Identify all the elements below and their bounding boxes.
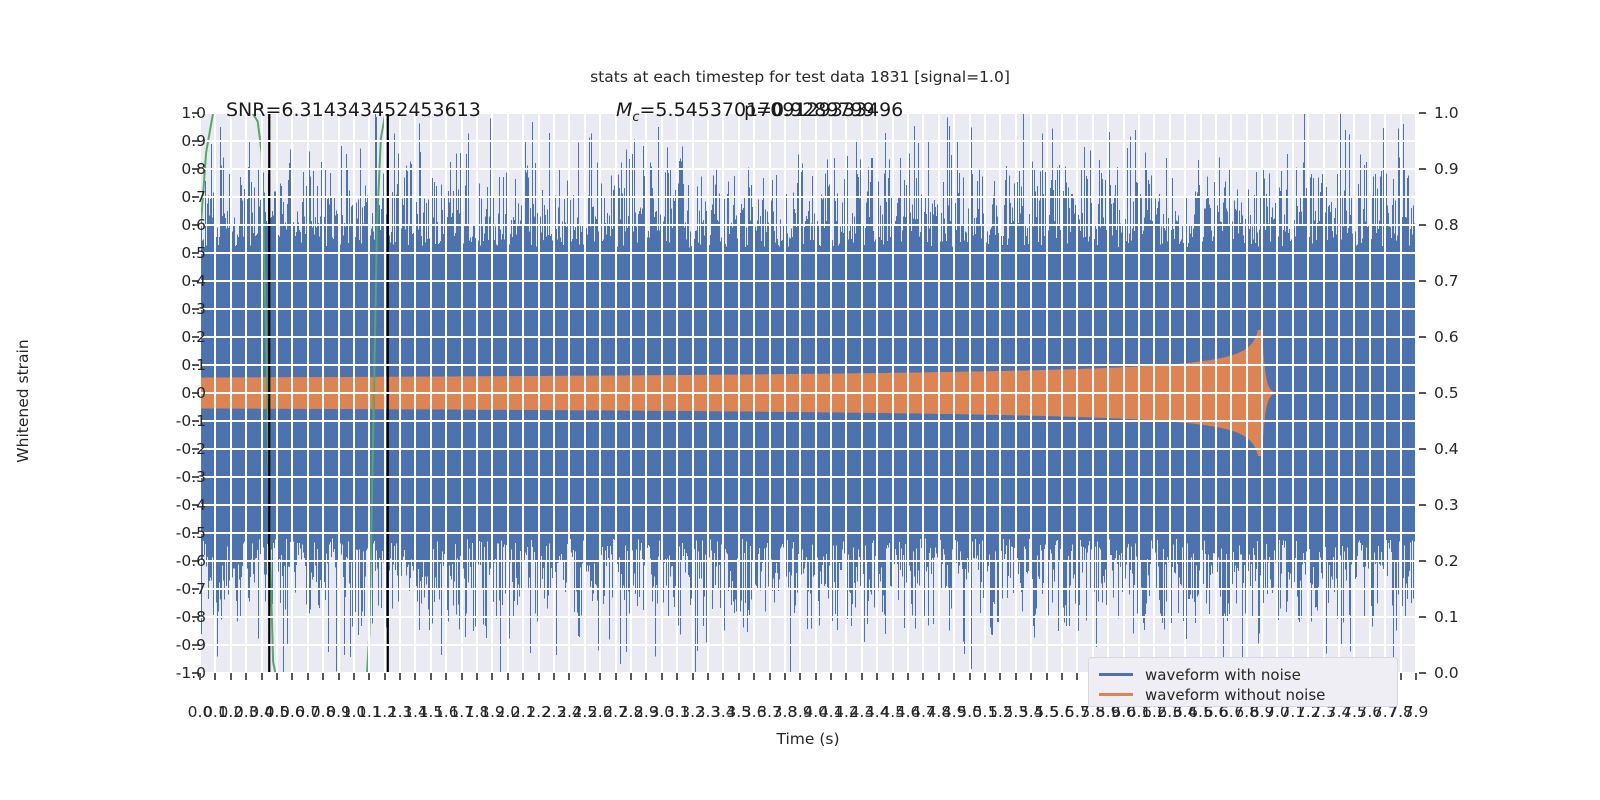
legend-entry-without-noise: waveform without noise <box>1099 685 1387 704</box>
legend-label-with-noise: waveform with noise <box>1145 666 1301 684</box>
x-gridline <box>1123 113 1125 673</box>
x-gridline <box>969 113 971 673</box>
x-tickmark <box>969 673 971 680</box>
y-gridline <box>200 364 1416 366</box>
x-tickmark <box>291 673 293 680</box>
chirp-mass-subscript: c <box>632 110 639 125</box>
y-tickmark-right <box>1419 224 1426 226</box>
x-gridline <box>676 113 678 673</box>
x-gridline <box>861 113 863 673</box>
y-tick-label-right: 0.3 <box>1434 496 1459 514</box>
y-tick-label-left: 0.7 <box>181 188 206 206</box>
y-tick-label-right: 1.0 <box>1434 104 1459 122</box>
x-gridline <box>1400 113 1402 673</box>
y-gridline <box>200 224 1416 226</box>
x-gridline <box>214 113 216 673</box>
x-gridline <box>984 113 986 673</box>
x-gridline <box>1092 113 1094 673</box>
x-tickmark <box>753 673 755 680</box>
x-gridline <box>1230 113 1232 673</box>
x-gridline <box>938 113 940 673</box>
x-gridline <box>1046 113 1048 673</box>
x-gridline <box>645 113 647 673</box>
x-tickmark <box>568 673 570 680</box>
y-gridline <box>200 196 1416 198</box>
y-tickmark-right <box>1419 392 1426 394</box>
y-tick-label-left: 0.9 <box>181 132 206 150</box>
x-gridline <box>399 113 401 673</box>
y-gridline <box>200 420 1416 422</box>
x-gridline <box>1415 113 1416 673</box>
x-gridline <box>368 113 370 673</box>
x-tickmark <box>445 673 447 680</box>
x-tickmark <box>214 673 216 680</box>
x-tickmark <box>722 673 724 680</box>
x-gridline <box>276 113 278 673</box>
y-tick-label-left: 0.1 <box>181 356 206 374</box>
x-gridline <box>553 113 555 673</box>
x-tickmark <box>353 673 355 680</box>
x-gridline <box>522 113 524 673</box>
x-tickmark <box>276 673 278 680</box>
x-gridline <box>230 113 232 673</box>
x-gridline <box>245 113 247 673</box>
x-gridline <box>1246 113 1248 673</box>
x-gridline <box>307 113 309 673</box>
x-tickmark <box>1076 673 1078 680</box>
x-tickmark <box>769 673 771 680</box>
x-gridline <box>1261 113 1263 673</box>
x-gridline <box>430 113 432 673</box>
y-tick-label-left: -0.1 <box>176 412 206 430</box>
y-gridline <box>200 588 1416 590</box>
figure-title: stats at each timestep for test data 183… <box>0 68 1600 86</box>
y-tickmark-right <box>1419 112 1426 114</box>
y-tick-label-right: 0.7 <box>1434 272 1459 290</box>
x-tickmark <box>1415 673 1417 680</box>
x-gridline <box>769 113 771 673</box>
x-tickmark <box>322 673 324 680</box>
y-tick-label-right: 0.8 <box>1434 216 1459 234</box>
figure-canvas: stats at each timestep for test data 183… <box>0 0 1600 800</box>
x-tickmark <box>692 673 694 680</box>
x-gridline <box>1076 113 1078 673</box>
y-tick-label-left: 0.0 <box>181 384 206 402</box>
y-tickmark-right <box>1419 448 1426 450</box>
x-tickmark <box>799 673 801 680</box>
x-tickmark <box>261 673 263 680</box>
x-gridline <box>1215 113 1217 673</box>
y-gridline <box>200 644 1416 646</box>
x-tickmark <box>615 673 617 680</box>
y-tick-label-left: 0.6 <box>181 216 206 234</box>
y-gridline <box>200 616 1416 618</box>
x-tickmark <box>830 673 832 680</box>
x-tickmark <box>999 673 1001 680</box>
x-gridline <box>1276 113 1278 673</box>
x-gridline <box>799 113 801 673</box>
x-tickmark <box>430 673 432 680</box>
x-tick-label: 7.9 <box>1404 703 1429 721</box>
x-tickmark <box>307 673 309 680</box>
x-tickmark <box>892 673 894 680</box>
y-tick-label-right: 0.2 <box>1434 552 1459 570</box>
y-gridline <box>200 168 1416 170</box>
x-gridline <box>1030 113 1032 673</box>
y-tickmark-right <box>1419 504 1426 506</box>
x-gridline <box>753 113 755 673</box>
y-tick-label-right: 0.5 <box>1434 384 1459 402</box>
y-tick-label-right: 0.9 <box>1434 160 1459 178</box>
x-gridline <box>1107 113 1109 673</box>
y-tick-label-right: 0.1 <box>1434 608 1459 626</box>
y-axis-label-left: Whitened strain <box>14 291 32 511</box>
x-tickmark <box>1030 673 1032 680</box>
legend-entry-with-noise: waveform with noise <box>1099 665 1387 684</box>
y-tick-label-left: -0.7 <box>176 580 206 598</box>
x-gridline <box>291 113 293 673</box>
x-gridline <box>584 113 586 673</box>
x-gridline <box>1061 113 1063 673</box>
plot-area <box>200 113 1416 673</box>
x-gridline <box>445 113 447 673</box>
x-tickmark <box>984 673 986 680</box>
x-gridline <box>384 113 386 673</box>
x-tickmark <box>1400 673 1402 680</box>
x-tickmark <box>1061 673 1063 680</box>
x-gridline <box>907 113 909 673</box>
y-tick-label-left: 0.5 <box>181 244 206 262</box>
y-tickmark-right <box>1419 616 1426 618</box>
x-gridline <box>1323 113 1325 673</box>
x-gridline <box>599 113 601 673</box>
x-gridline <box>1384 113 1386 673</box>
y-gridline <box>200 448 1416 450</box>
x-gridline <box>414 113 416 673</box>
x-gridline <box>661 113 663 673</box>
x-gridline <box>1292 113 1294 673</box>
x-gridline <box>476 113 478 673</box>
y-gridline <box>200 336 1416 338</box>
x-gridline <box>1184 113 1186 673</box>
x-gridline <box>1200 113 1202 673</box>
x-gridline <box>845 113 847 673</box>
x-gridline <box>1138 113 1140 673</box>
x-tickmark <box>338 673 340 680</box>
y-gridline <box>200 476 1416 478</box>
x-tickmark <box>230 673 232 680</box>
x-gridline <box>1338 113 1340 673</box>
x-gridline <box>1307 113 1309 673</box>
x-tickmark <box>845 673 847 680</box>
y-gridline <box>200 308 1416 310</box>
y-tick-label-left: -0.6 <box>176 552 206 570</box>
chirp-mass-symbol: M <box>616 99 632 121</box>
x-tickmark <box>645 673 647 680</box>
legend-label-without-noise: waveform without noise <box>1145 686 1325 704</box>
x-tickmark <box>815 673 817 680</box>
x-tickmark <box>538 673 540 680</box>
x-gridline <box>815 113 817 673</box>
x-tickmark <box>599 673 601 680</box>
y-gridline <box>200 280 1416 282</box>
x-gridline <box>830 113 832 673</box>
y-tickmark-right <box>1419 168 1426 170</box>
x-gridline <box>922 113 924 673</box>
legend-swatch-with-noise <box>1099 673 1133 676</box>
x-tickmark <box>738 673 740 680</box>
y-tick-label-left: 0.3 <box>181 300 206 318</box>
x-tickmark <box>661 673 663 680</box>
x-gridline <box>568 113 570 673</box>
x-gridline <box>261 113 263 673</box>
x-gridline <box>538 113 540 673</box>
y-tick-label-right: 0.6 <box>1434 328 1459 346</box>
x-gridline <box>784 113 786 673</box>
x-gridline <box>738 113 740 673</box>
y-tick-label-left: -1.0 <box>176 664 206 682</box>
x-tickmark <box>784 673 786 680</box>
y-gridline <box>200 560 1416 562</box>
x-axis-label: Time (s) <box>200 730 1416 748</box>
y-tick-label-left: 0.4 <box>181 272 206 290</box>
x-gridline <box>353 113 355 673</box>
y-tick-label-left: 0.2 <box>181 328 206 346</box>
x-gridline <box>507 113 509 673</box>
y-tickmark-right <box>1419 560 1426 562</box>
y-tick-label-left: -0.4 <box>176 496 206 514</box>
y-tick-label-left: -0.5 <box>176 524 206 542</box>
x-gridline <box>892 113 894 673</box>
x-gridline <box>707 113 709 673</box>
x-tickmark <box>953 673 955 680</box>
x-tickmark <box>584 673 586 680</box>
y-tickmark-right <box>1419 280 1426 282</box>
x-tickmark <box>384 673 386 680</box>
x-gridline <box>1015 113 1017 673</box>
y-tick-label-left: -0.2 <box>176 440 206 458</box>
x-gridline <box>461 113 463 673</box>
x-tickmark <box>414 673 416 680</box>
x-tickmark <box>507 673 509 680</box>
x-tickmark <box>553 673 555 680</box>
x-tickmark <box>922 673 924 680</box>
y-tickmark-right <box>1419 672 1426 674</box>
y-tick-label-left: 0.8 <box>181 160 206 178</box>
x-gridline <box>615 113 617 673</box>
x-tickmark <box>199 673 201 680</box>
x-tickmark <box>630 673 632 680</box>
legend: waveform with noise waveform without noi… <box>1088 657 1398 707</box>
y-tick-label-left: -0.8 <box>176 608 206 626</box>
x-gridline <box>876 113 878 673</box>
x-tickmark <box>707 673 709 680</box>
y-gridline <box>200 532 1416 534</box>
x-tickmark <box>245 673 247 680</box>
y-tick-label-right: 0.4 <box>1434 440 1459 458</box>
x-gridline <box>1353 113 1355 673</box>
x-gridline <box>1153 113 1155 673</box>
legend-swatch-without-noise <box>1099 693 1133 696</box>
chirp-mass-value: =5.5453701 <box>640 99 759 121</box>
x-tickmark <box>907 673 909 680</box>
x-tickmark <box>368 673 370 680</box>
y-gridline <box>200 504 1416 506</box>
x-gridline <box>722 113 724 673</box>
x-gridline <box>999 113 1001 673</box>
y-tick-label-right: 0.0 <box>1434 664 1459 682</box>
x-tickmark <box>938 673 940 680</box>
x-tickmark <box>676 673 678 680</box>
x-gridline <box>692 113 694 673</box>
x-tickmark <box>491 673 493 680</box>
x-gridline <box>491 113 493 673</box>
y-gridline <box>200 252 1416 254</box>
probability-annotation: p=0.9289799 <box>744 99 875 121</box>
x-gridline <box>1169 113 1171 673</box>
x-tickmark <box>522 673 524 680</box>
y-tick-label-left: -0.9 <box>176 636 206 654</box>
y-tick-label-left: -0.3 <box>176 468 206 486</box>
x-tickmark <box>876 673 878 680</box>
x-tickmark <box>861 673 863 680</box>
x-tickmark <box>1015 673 1017 680</box>
y-gridline <box>200 140 1416 142</box>
x-tickmark <box>399 673 401 680</box>
x-tickmark <box>476 673 478 680</box>
y-gridline <box>200 392 1416 394</box>
x-gridline <box>1369 113 1371 673</box>
x-gridline <box>630 113 632 673</box>
x-gridline <box>322 113 324 673</box>
x-tickmark <box>461 673 463 680</box>
x-tickmark <box>1046 673 1048 680</box>
y-tick-label-left: 1.0 <box>181 104 206 122</box>
x-gridline <box>338 113 340 673</box>
x-gridline <box>953 113 955 673</box>
snr-annotation: SNR=6.314343452453613 <box>226 99 481 121</box>
y-tickmark-right <box>1419 336 1426 338</box>
